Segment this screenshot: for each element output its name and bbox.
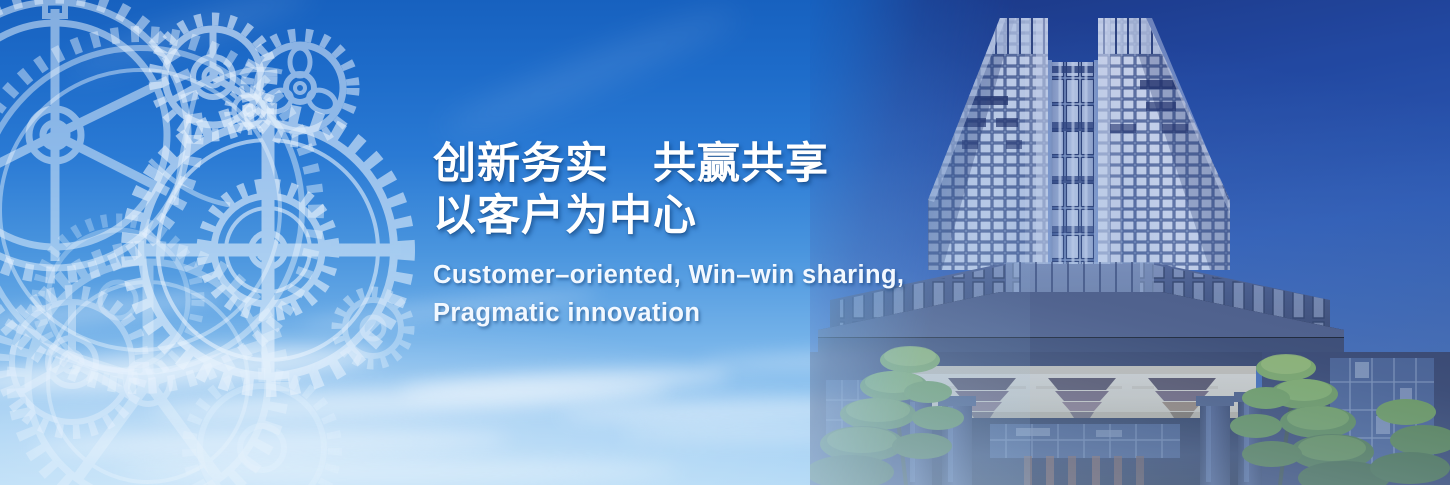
gear-small-right bbox=[337, 292, 409, 364]
gear-cluster-graphic bbox=[0, 0, 470, 485]
subtitle-en-line-1: Customer–oriented, Win–win sharing, bbox=[433, 256, 904, 294]
headline-cn-line-2: 以客户为中心 bbox=[433, 190, 904, 242]
office-tower-photo bbox=[810, 0, 1450, 485]
hero-banner: 创新务实 共赢共享 以客户为中心 Customer–oriented, Win–… bbox=[0, 0, 1450, 485]
subtitle-en-line-2: Pragmatic innovation bbox=[433, 294, 904, 332]
banner-text-block: 创新务实 共赢共享 以客户为中心 Customer–oriented, Win–… bbox=[433, 138, 904, 332]
headline-cn-line-1: 创新务实 共赢共享 bbox=[433, 138, 904, 190]
